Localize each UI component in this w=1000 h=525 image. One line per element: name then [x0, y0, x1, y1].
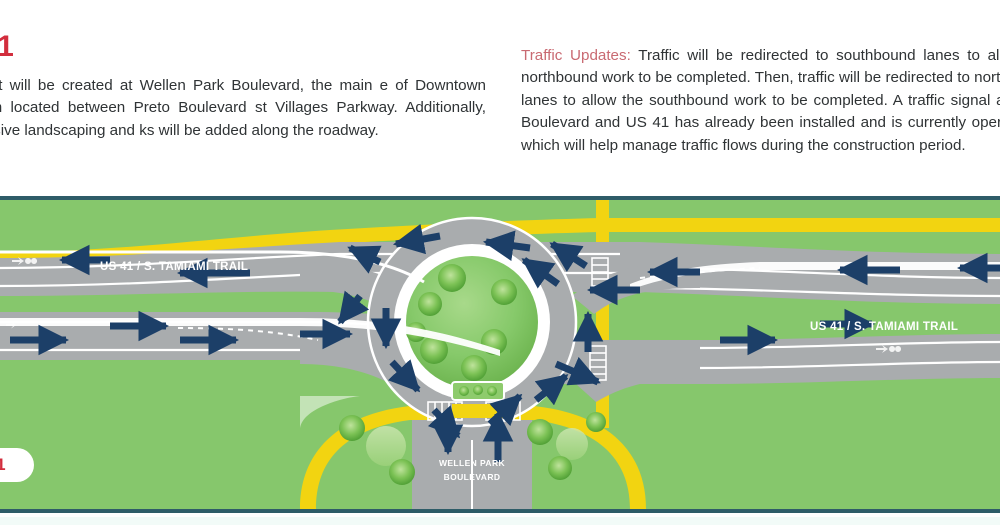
traffic-updates-paragraph: Traffic Updates: Traffic will be redirec… — [521, 45, 1000, 157]
label-wellen-park-line2: BOULEVARD — [444, 472, 501, 482]
right-text-column: Traffic Updates: Traffic will be redirec… — [521, 45, 1000, 157]
roundabout-map: US 41 / S. TAMIAMI TRAIL US 41 / S. TAMI… — [0, 196, 1000, 513]
label-wellen-park-line1: WELLEN PARK — [439, 458, 506, 468]
page-title: se 1 — [0, 30, 486, 64]
left-text-column: se 1 dabout will be created at Wellen Pa… — [0, 30, 486, 142]
page-root: se 1 dabout will be created at Wellen Pa… — [0, 0, 1000, 525]
traffic-updates-label: Traffic Updates: — [521, 47, 631, 64]
label-us41-left: US 41 / S. TAMIAMI TRAIL — [100, 261, 248, 273]
blvd-median-island — [452, 382, 504, 400]
roundabout-map-svg: US 41 / S. TAMIAMI TRAIL US 41 / S. TAMI… — [0, 200, 1000, 509]
footer-strip — [0, 517, 1000, 525]
phase-marker-label: e 1 — [0, 455, 6, 475]
label-us41-right: US 41 / S. TAMIAMI TRAIL — [810, 321, 958, 333]
left-column-paragraph: dabout will be created at Wellen Park Bo… — [0, 75, 486, 142]
article-text-area: se 1 dabout will be created at Wellen Pa… — [0, 0, 1000, 196]
